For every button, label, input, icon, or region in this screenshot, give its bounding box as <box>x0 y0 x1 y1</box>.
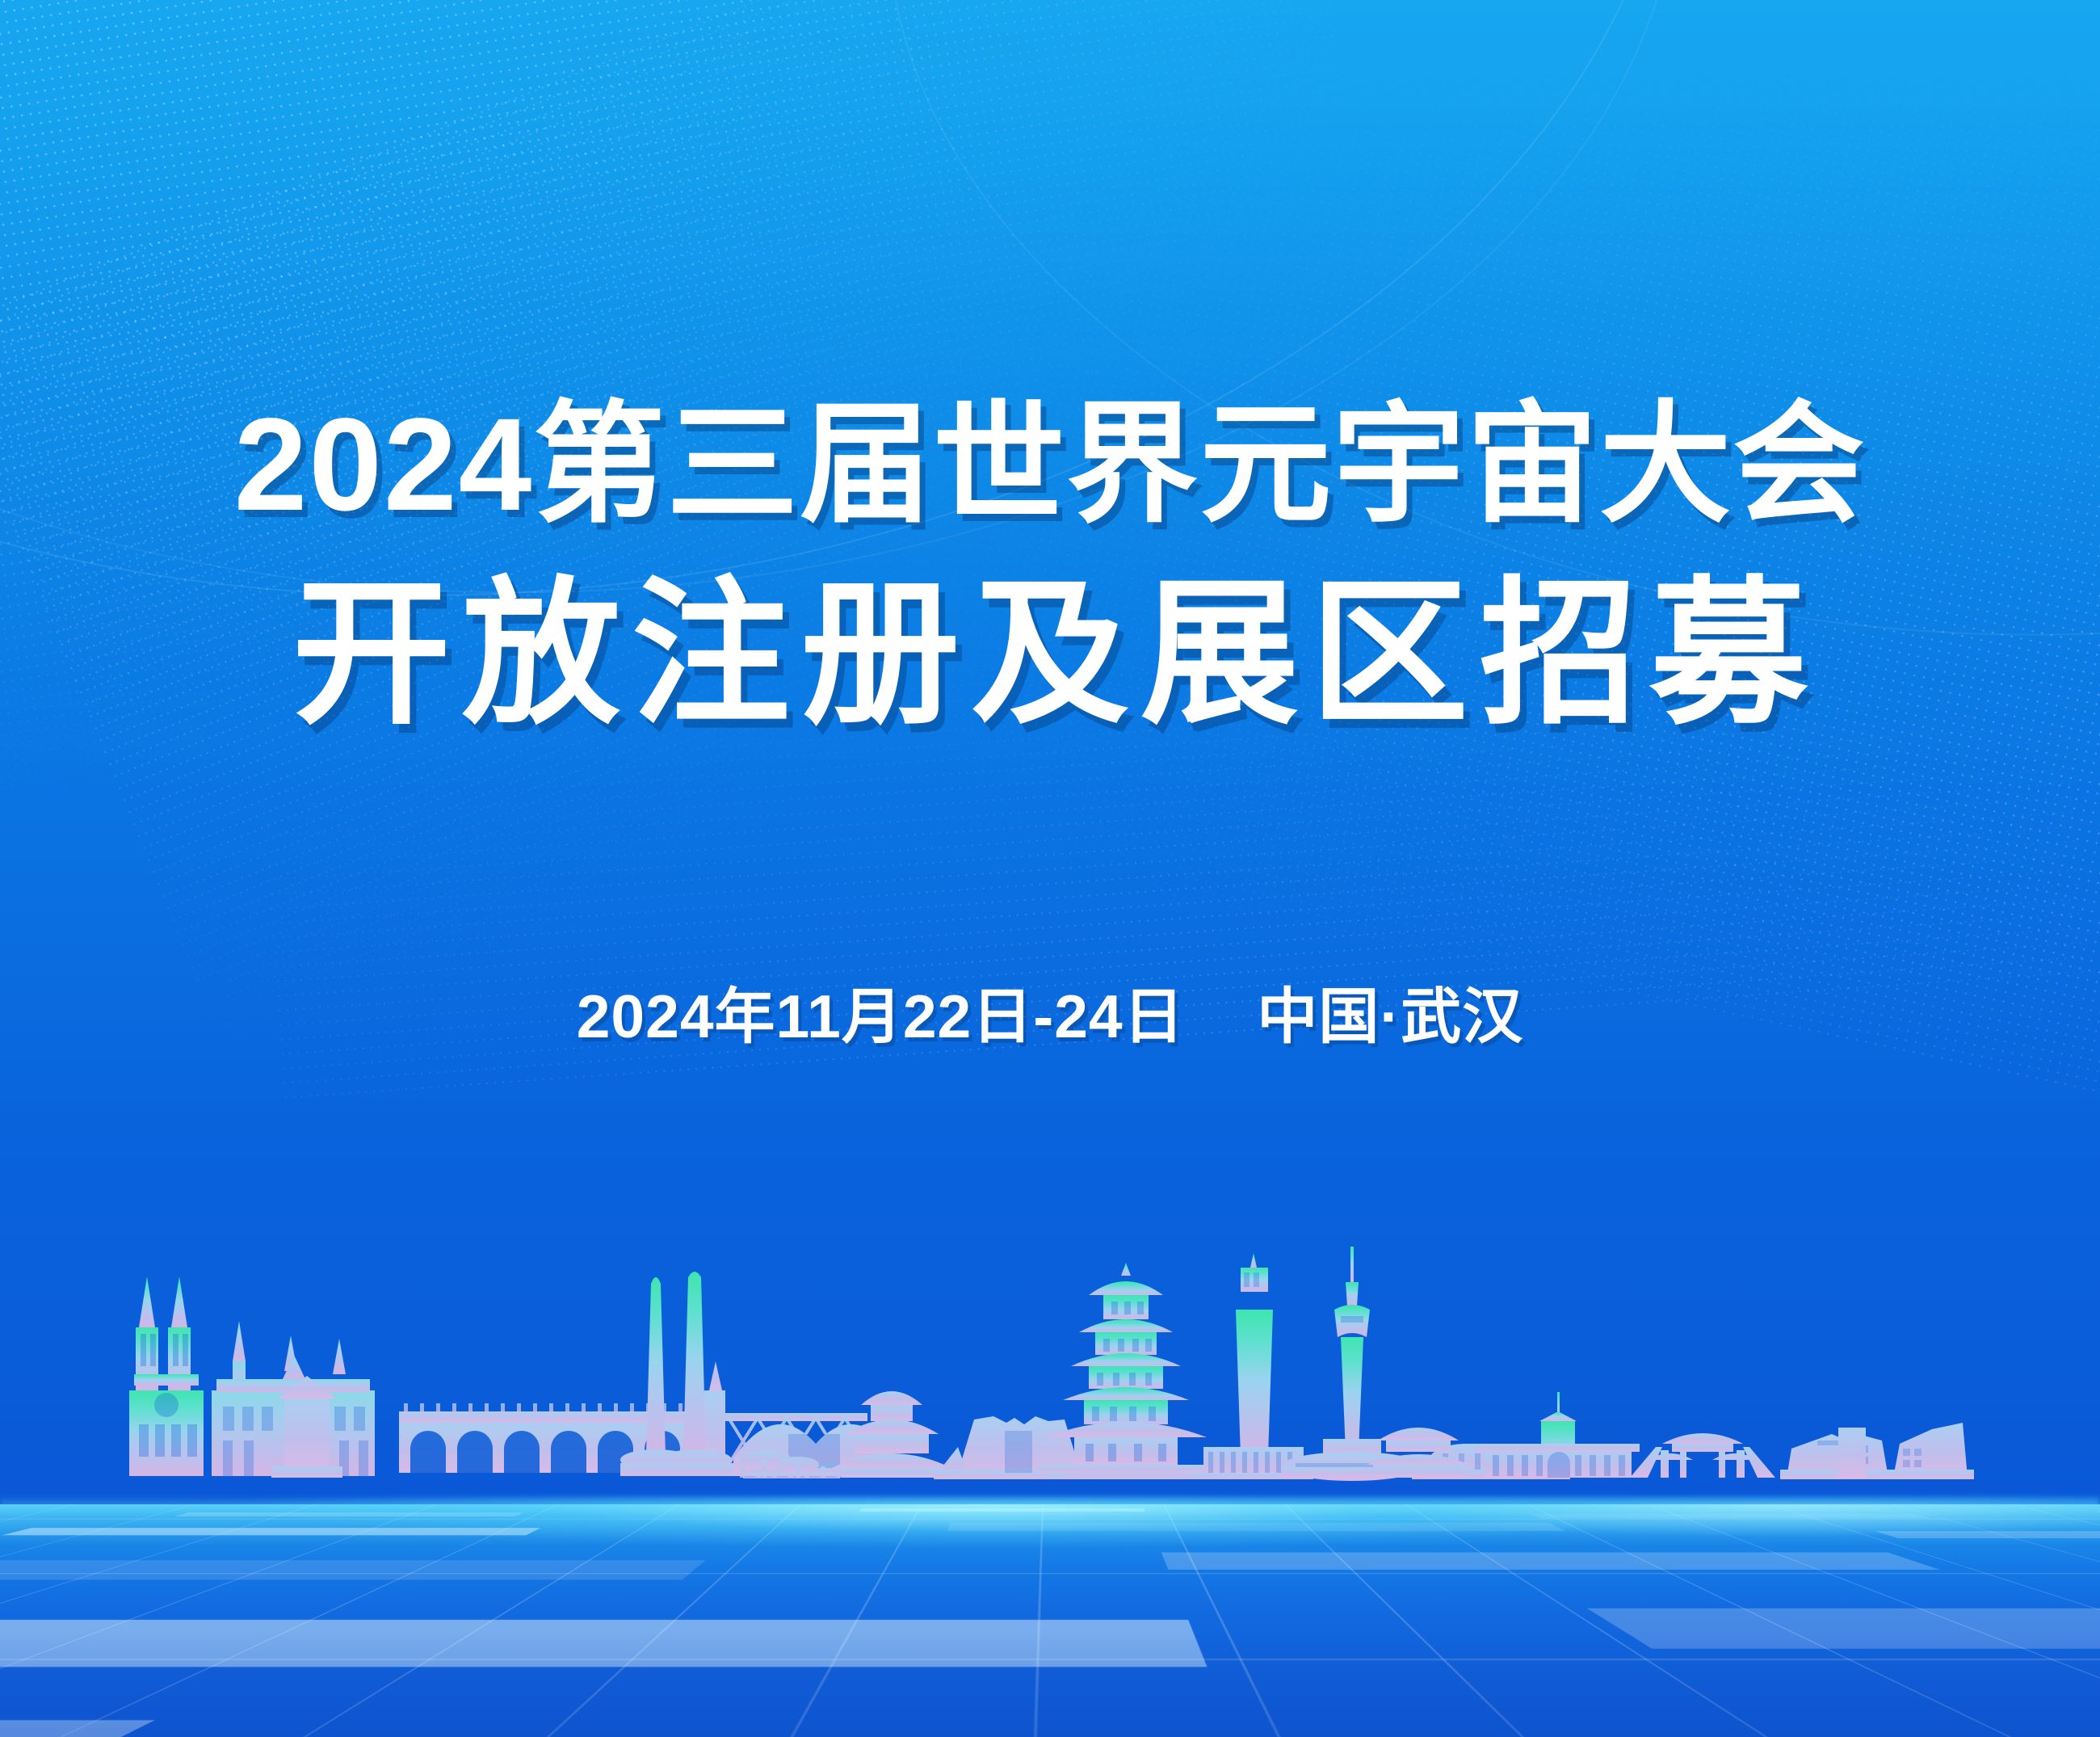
sports-center-columns <box>1426 1453 1545 1470</box>
floor-glow-tiles <box>0 1504 2100 1737</box>
theatre-columns <box>740 1466 890 1478</box>
tv-tower-base <box>1281 1439 1423 1481</box>
event-location: 中国·武汉 <box>1257 982 1523 1050</box>
podium-fins <box>1208 1452 1292 1473</box>
customs-main-block <box>1476 1444 1640 1478</box>
yellow-crane-tower-base <box>1039 1422 1213 1479</box>
custom-house-detail <box>223 1407 368 1476</box>
landmark-wuhan-grand-theatre <box>1780 1423 1974 1479</box>
landmark-wuhan-center-tower <box>646 1277 666 1455</box>
landmark-hubei-provincial-museum <box>934 1416 1107 1479</box>
theatre-tower-block <box>1838 1428 1866 1478</box>
landmark-yangtze-river-bridge <box>704 1361 867 1474</box>
pagoda-detail <box>1244 1272 1259 1287</box>
event-meta-line: 2024年11月22日-24日 中国·武汉 <box>0 986 2100 1047</box>
yellow-crane-tower-windows <box>1086 1302 1166 1462</box>
event-title-line2: 开放注册及展区招募 <box>0 575 2100 734</box>
landmark-greenland-center-tower <box>683 1272 706 1455</box>
background-particle-wave <box>0 0 2100 1737</box>
foreground-walkway <box>743 1473 840 1478</box>
bridge-truss <box>729 1418 866 1465</box>
dot-field-left-steep <box>0 0 1371 1101</box>
landmark-yellow-crane-tower <box>1063 1263 1189 1424</box>
foreground-tree-cluster <box>740 1450 819 1478</box>
event-title-line1: 2024第三届世界元宇宙大会 <box>0 398 2100 530</box>
pagoda-podium <box>1194 1447 1313 1479</box>
landmark-memorial-archway <box>1630 1433 1775 1478</box>
landmark-temple-hall <box>1367 1428 1470 1478</box>
bridge-railing <box>404 1403 682 1413</box>
tower-podium <box>620 1449 741 1476</box>
cathedral-detail <box>139 1334 197 1457</box>
wuhan-skyline-silhouette <box>0 1232 2100 1491</box>
landmark-guiyuan-temple-pagoda <box>1236 1253 1273 1457</box>
arch-openings <box>410 1431 680 1473</box>
customs-columns <box>1493 1452 1625 1478</box>
event-date: 2024年11月22日-24日 <box>577 982 1185 1050</box>
theatre-glass <box>788 1434 840 1468</box>
dot-field-upper-right <box>751 0 2100 1115</box>
landmark-jianghan-customs-building <box>1539 1392 1577 1476</box>
perspective-grid-floor <box>0 1504 2100 1737</box>
landmark-qintai-grand-theatre <box>733 1424 898 1476</box>
landmark-wuhan-sports-center <box>1412 1444 1570 1479</box>
conference-poster: 2024第三届世界元宇宙大会 开放注册及展区招募 2024年11月22日-24日… <box>0 0 2100 1737</box>
landmark-stone-arch-bridge <box>399 1411 704 1473</box>
landmark-gothic-cathedral <box>129 1276 204 1476</box>
tv-tower-ring <box>1341 1316 1363 1323</box>
central-monument <box>271 1376 342 1478</box>
landmark-chinese-pavilion <box>832 1391 951 1478</box>
landmark-wuhan-science-technology-museum <box>1092 1457 1195 1479</box>
landmark-hankou-custom-house <box>212 1321 375 1476</box>
landmark-wuhan-tv-tower <box>1334 1247 1370 1452</box>
museum-glass-panel <box>1005 1431 1032 1473</box>
tv-tower-base-ring <box>1296 1463 1409 1467</box>
grand-theatre-windows <box>1817 1440 1921 1467</box>
